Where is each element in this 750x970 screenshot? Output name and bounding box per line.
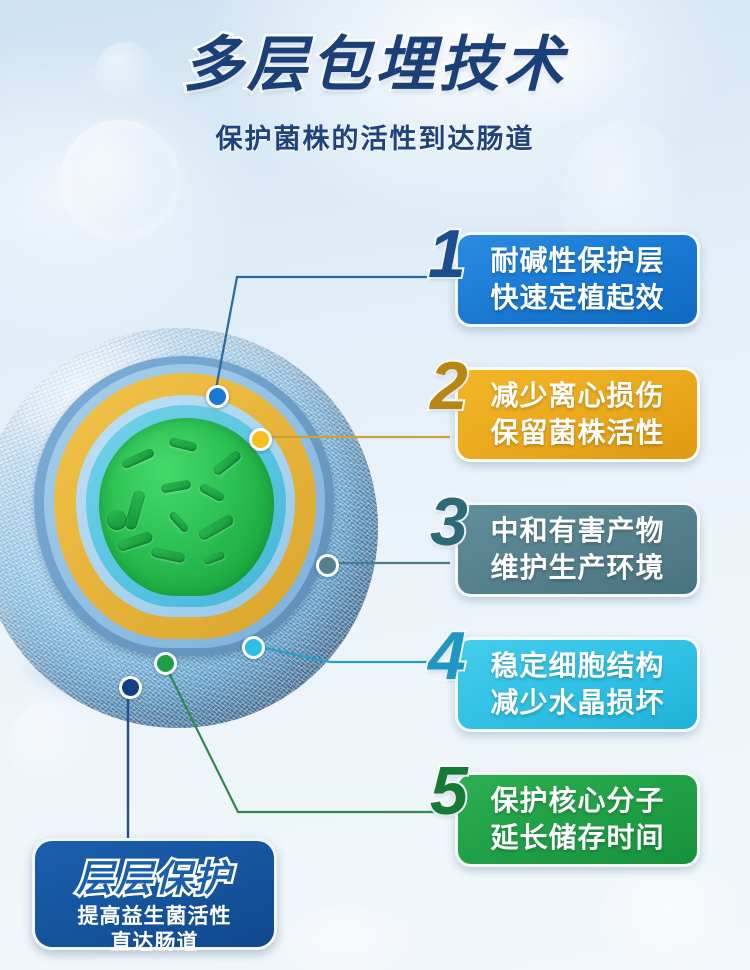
poster-canvas: 多层包埋技术 保护菌株的活性到达肠道 [0,0,750,970]
info-card-1[interactable]: 耐碱性保护层 快速定植起效 [455,232,700,327]
info-card-4-number: 4 [428,622,466,690]
info-card-2-line2: 保留菌株活性 [490,415,664,452]
info-card-5[interactable]: 保护核心分子 延长储存时间 [455,772,700,867]
bottom-badge-line1: 提高益生菌活性 [35,904,274,930]
info-card-3[interactable]: 中和有害产物 维护生产环境 [455,502,700,597]
connector-line-4 [251,645,450,662]
info-card-4-line2: 减少水晶损坏 [490,685,664,722]
info-card-3-line1: 中和有害产物 [490,513,664,550]
info-card-2-number: 2 [430,352,468,420]
info-card-3-number: 3 [430,488,468,556]
info-card-1-line1: 耐碱性保护层 [490,243,664,280]
connector-dot-2[interactable] [249,428,272,451]
connector-dot-1[interactable] [206,385,229,408]
info-card-5-line1: 保护核心分子 [490,783,664,820]
connector-line-5 [163,661,450,812]
connector-dot-3[interactable] [316,554,339,577]
info-card-1-line2: 快速定植起效 [490,280,664,317]
connector-dot-6[interactable] [119,676,142,699]
info-card-5-number: 5 [430,757,468,825]
info-card-2-line1: 减少离心损伤 [490,378,664,415]
connector-dot-5[interactable] [154,652,177,675]
bottom-badge[interactable]: 层层保护 提高益生菌活性 直达肠道 [32,838,277,950]
bottom-badge-line2: 直达肠道 [35,930,274,956]
info-card-4[interactable]: 稳定细胞结构 减少水晶损坏 [455,637,700,732]
connector-line-1 [215,277,448,394]
info-card-4-line1: 稳定细胞结构 [490,648,664,685]
info-card-3-line2: 维护生产环境 [490,550,664,587]
bottom-badge-title: 层层保护 [35,848,274,902]
info-card-5-line2: 延长储存时间 [490,820,664,857]
info-card-2[interactable]: 减少离心损伤 保留菌株活性 [455,367,700,462]
info-card-1-number: 1 [428,220,466,288]
connector-dot-4[interactable] [242,636,265,659]
